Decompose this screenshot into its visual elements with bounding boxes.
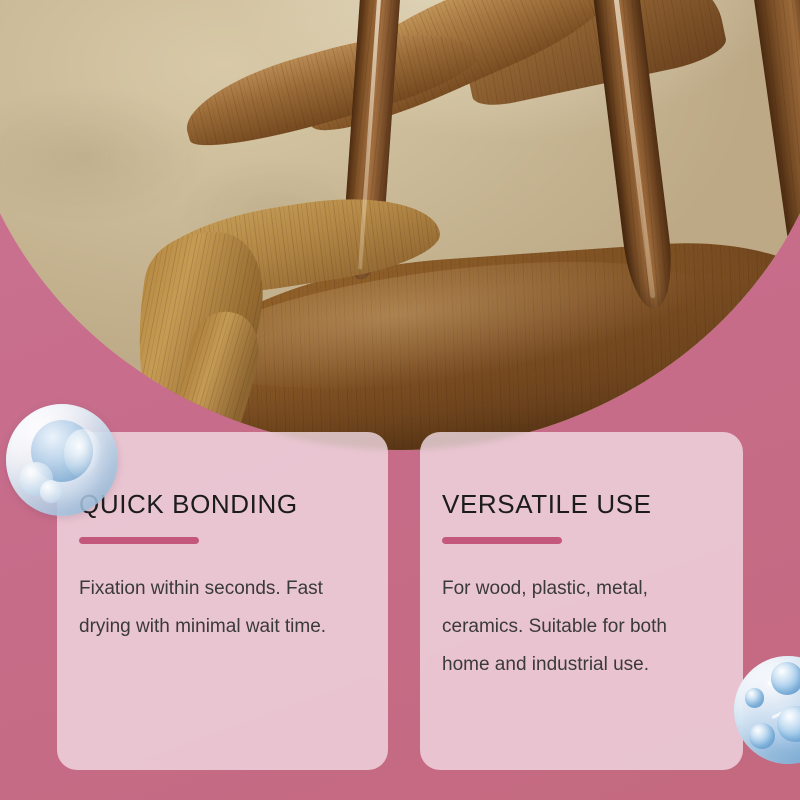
water-bubble-small-b bbox=[40, 480, 62, 502]
water-bubble-gloss bbox=[64, 429, 102, 478]
product-feature-banner: QUICK BONDING Fixation within seconds. F… bbox=[0, 0, 800, 800]
card-title-versatile-use: VERSATILE USE bbox=[442, 490, 711, 519]
card-title-quick-bonding: QUICK BONDING bbox=[79, 490, 356, 519]
molecule-node-b bbox=[745, 688, 764, 707]
accent-bar-quick-bonding bbox=[79, 537, 199, 544]
accent-bar-versatile-use bbox=[442, 537, 562, 544]
water-bubble-icon bbox=[6, 404, 118, 516]
card-body-versatile-use: For wood, plastic, metal, ceramics. Suit… bbox=[442, 570, 711, 684]
molecule-node-d bbox=[749, 723, 775, 749]
molecule-node-c bbox=[777, 706, 800, 743]
feature-card-versatile-use[interactable]: VERSATILE USE For wood, plastic, metal, … bbox=[420, 432, 743, 770]
card-body-quick-bonding: Fixation within seconds. Fast drying wit… bbox=[79, 570, 356, 646]
molecule-node-a bbox=[771, 662, 800, 694]
feature-cards: QUICK BONDING Fixation within seconds. F… bbox=[0, 0, 800, 800]
